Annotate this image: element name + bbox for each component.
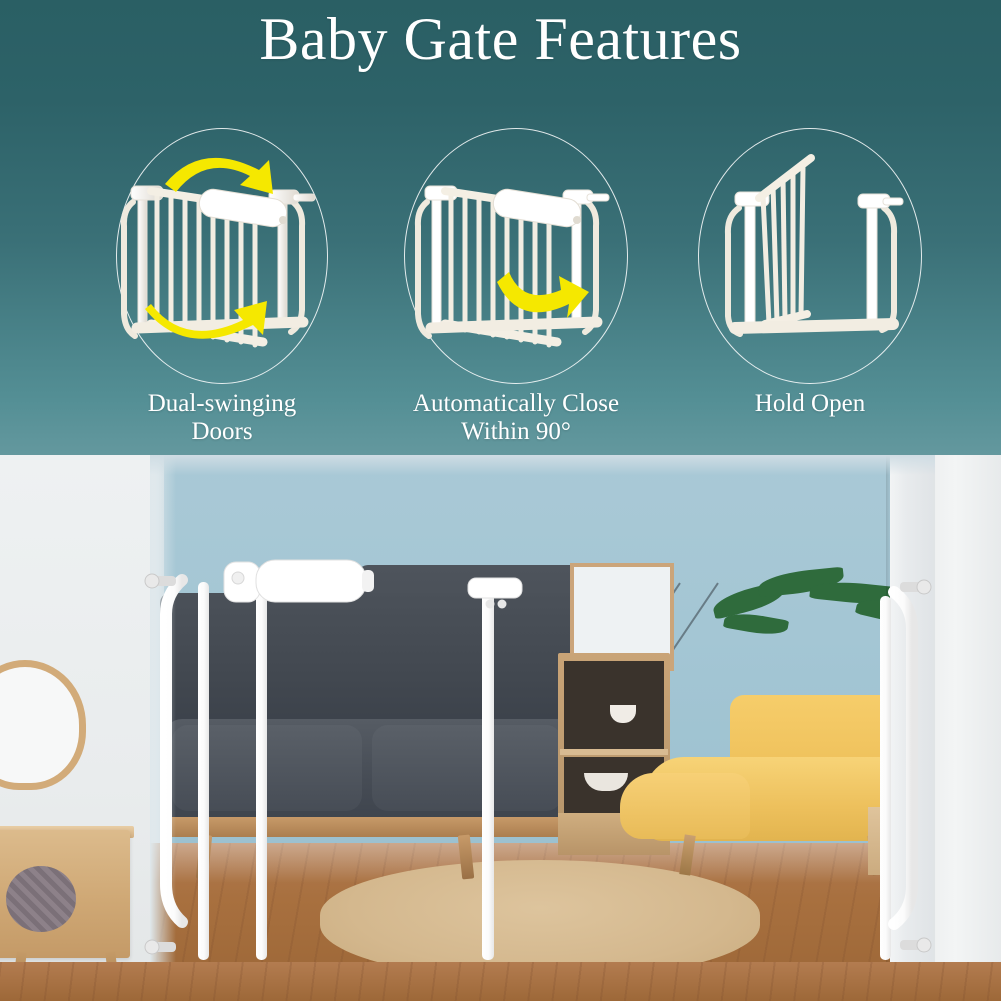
baby-gate-swinging-both-directions-icon xyxy=(107,136,337,380)
feature-caption-line1: Automatically Close xyxy=(356,390,676,418)
feature-caption-line2: Within 90° xyxy=(356,418,676,446)
gate-bars-left xyxy=(298,588,450,958)
feature-caption: Hold Open xyxy=(650,390,970,418)
gate-post xyxy=(198,582,209,960)
gate-left-mount xyxy=(145,574,182,954)
gate-right-mount xyxy=(894,580,931,952)
baby-gate-auto-closing-icon xyxy=(401,136,631,380)
gate-post xyxy=(880,596,891,960)
feature-caption: Automatically Close Within 90° xyxy=(356,390,676,446)
photo-top-fade xyxy=(150,455,935,475)
baby-gate-held-open-icon xyxy=(695,136,925,380)
feature-dual-swinging-doors: Dual-swinging Doors xyxy=(84,128,360,458)
feature-hold-open: Hold Open xyxy=(672,128,948,458)
feature-row: Dual-swinging Doors xyxy=(0,128,1001,458)
gate-post xyxy=(256,582,267,960)
page-title: Baby Gate Features xyxy=(0,8,1001,71)
feature-caption-line2: Doors xyxy=(62,418,382,446)
feature-automatically-close: Automatically Close Within 90° xyxy=(378,128,654,458)
feature-caption-line1: Hold Open xyxy=(650,390,970,418)
feature-caption: Dual-swinging Doors xyxy=(62,390,382,446)
rotation-arrow-top xyxy=(165,158,273,194)
sideboard-woven-panel xyxy=(6,866,76,932)
gate-bars-right xyxy=(536,596,844,958)
installed-baby-gate xyxy=(138,558,938,1001)
feature-caption-line1: Dual-swinging xyxy=(62,390,382,418)
gate-center-hinge xyxy=(468,578,522,960)
infographic-page: Baby Gate Features xyxy=(0,0,1001,1001)
rotation-arrow-bottom xyxy=(145,301,267,339)
